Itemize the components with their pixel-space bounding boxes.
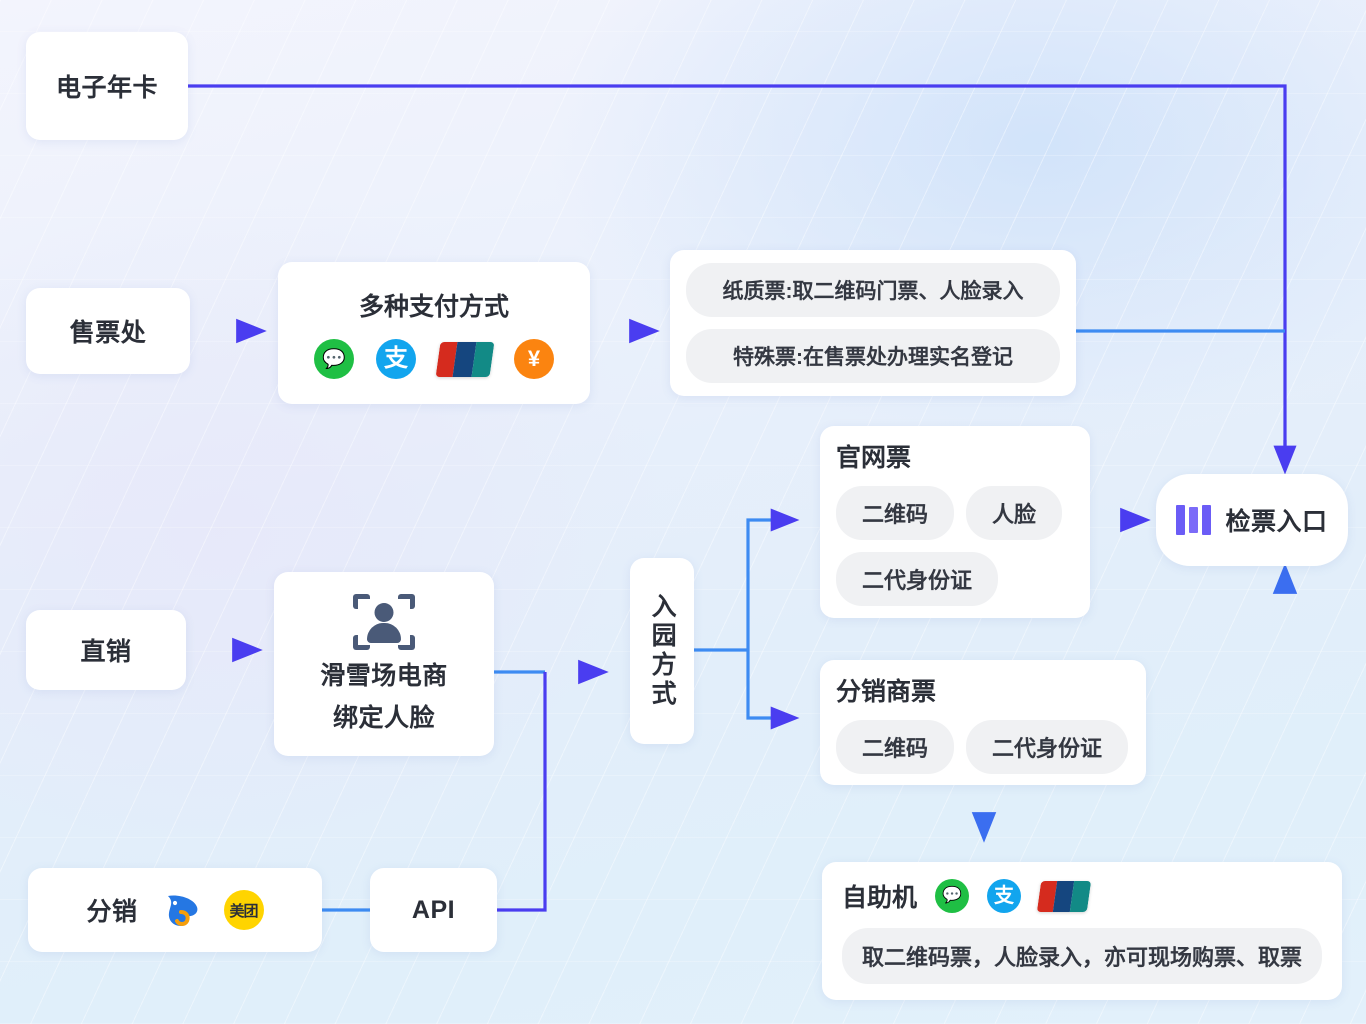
direct-sales-label: 直销 <box>80 632 131 668</box>
tag-qrcode[interactable]: 二维码 <box>836 486 954 540</box>
face-scan-icon <box>353 594 415 650</box>
node-gate-entrance[interactable]: 检票入口 <box>1156 474 1348 566</box>
ticket-office-label: 售票处 <box>70 313 147 349</box>
kiosk-title: 自助机 <box>842 878 917 914</box>
unionpay-icon <box>436 342 495 377</box>
entry-method-label: 入园方式 <box>644 593 680 709</box>
node-kiosk[interactable]: 自助机 💬 支 取二维码票，人脸录入，亦可现场购票、取票 <box>822 862 1342 1000</box>
api-label: API <box>412 896 455 925</box>
node-official-ticket[interactable]: 官网票 二维码 人脸 二代身份证 <box>820 426 1090 618</box>
ctrip-icon <box>160 890 202 930</box>
node-ticket-office[interactable]: 售票处 <box>26 288 190 374</box>
wechat-pay-icon: 💬 <box>935 879 969 913</box>
kiosk-note: 取二维码票，人脸录入，亦可现场购票、取票 <box>842 928 1322 984</box>
node-annual-card[interactable]: 电子年卡 <box>26 32 188 140</box>
distributor-ticket-tags: 二维码 二代身份证 <box>836 720 1128 774</box>
meituan-text: 美团 <box>229 900 257 921</box>
payment-title: 多种支付方式 <box>359 287 509 323</box>
special-ticket-item: 特殊票:在售票处办理实名登记 <box>686 329 1060 383</box>
tag-id-card[interactable]: 二代身份证 <box>966 720 1128 774</box>
gate-label: 检票入口 <box>1225 502 1327 538</box>
wechat-pay-icon: 💬 <box>314 339 354 379</box>
paper-ticket-item: 纸质票:取二维码门票、人脸录入 <box>686 263 1060 317</box>
node-api[interactable]: API <box>370 868 497 952</box>
official-ticket-tags: 二维码 人脸 <box>836 486 1062 540</box>
node-direct-sales[interactable]: 直销 <box>26 610 186 690</box>
official-ticket-tags-2: 二代身份证 <box>836 552 998 606</box>
cash-icon: ¥ <box>514 339 554 379</box>
node-ecommerce-face-binding[interactable]: 滑雪场电商 绑定人脸 <box>274 572 494 756</box>
gate-icon <box>1176 505 1211 535</box>
tag-id-card[interactable]: 二代身份证 <box>836 552 998 606</box>
payment-icon-row: 💬 支 ¥ <box>314 339 554 379</box>
official-ticket-title: 官网票 <box>836 438 911 474</box>
node-entry-method[interactable]: 入园方式 <box>630 558 694 744</box>
annual-card-label: 电子年卡 <box>56 68 158 104</box>
ecommerce-line2: 绑定人脸 <box>333 698 435 734</box>
alipay-icon: 支 <box>376 339 416 379</box>
node-distribution[interactable]: 分销 美团 <box>28 868 322 952</box>
tag-face[interactable]: 人脸 <box>966 486 1062 540</box>
ecommerce-line1: 滑雪场电商 <box>320 656 448 692</box>
distribution-label: 分销 <box>86 892 137 928</box>
unionpay-icon <box>1037 881 1091 912</box>
alipay-icon: 支 <box>987 879 1021 913</box>
kiosk-header: 自助机 💬 支 <box>842 878 1089 914</box>
node-distributor-ticket[interactable]: 分销商票 二维码 二代身份证 <box>820 660 1146 785</box>
meituan-icon: 美团 <box>224 890 264 930</box>
distributor-ticket-title: 分销商票 <box>836 672 936 708</box>
node-paper-tickets[interactable]: 纸质票:取二维码门票、人脸录入 特殊票:在售票处办理实名登记 <box>670 250 1076 396</box>
node-payment-methods[interactable]: 多种支付方式 💬 支 ¥ <box>278 262 590 404</box>
tag-qrcode[interactable]: 二维码 <box>836 720 954 774</box>
flowchart-canvas: 电子年卡 售票处 多种支付方式 💬 支 ¥ 纸质票:取二维码门票、人脸录入 特殊… <box>0 0 1366 1024</box>
